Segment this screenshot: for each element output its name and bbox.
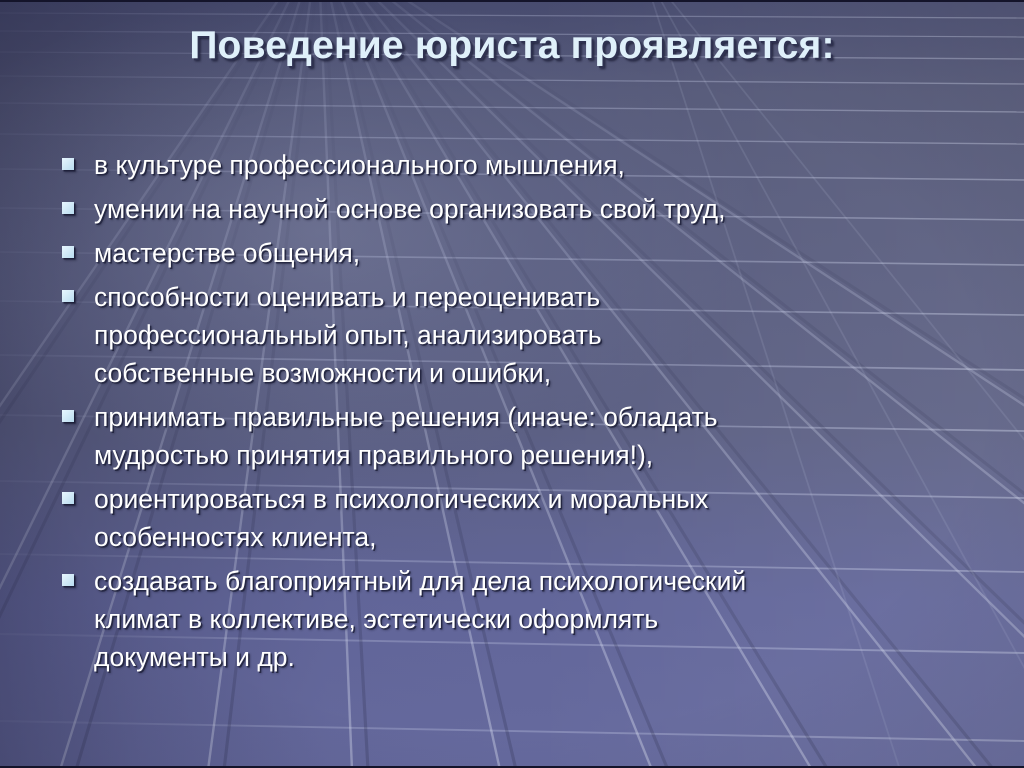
list-item-text: создавать благоприятный для дела психоло… (94, 562, 962, 676)
list-item-text: ориентироваться в психологических и мора… (94, 480, 962, 556)
list-item: ориентироваться в психологических и мора… (62, 480, 962, 556)
square-bullet-icon (62, 574, 74, 586)
list-item-text: в культуре профессионального мышления, (94, 146, 962, 184)
list-item: умении на научной основе организовать св… (62, 190, 962, 228)
presentation-slide: Поведение юриста проявляется: в культуре… (0, 0, 1024, 768)
list-item-text: мастерстве общения, (94, 234, 962, 272)
bullet-list: в культуре профессионального мышления, у… (62, 146, 962, 682)
square-bullet-icon (62, 290, 74, 302)
list-item-text: способности оценивать и переоценивать пр… (94, 278, 962, 392)
square-bullet-icon (62, 158, 74, 170)
list-item: в культуре профессионального мышления, (62, 146, 962, 184)
list-item: мастерстве общения, (62, 234, 962, 272)
list-item-text: умении на научной основе организовать св… (94, 190, 962, 228)
slide-title: Поведение юриста проявляется: (0, 24, 1024, 68)
list-item-text: принимать правильные решения (иначе: обл… (94, 398, 962, 474)
square-bullet-icon (62, 492, 74, 504)
list-item: принимать правильные решения (иначе: обл… (62, 398, 962, 474)
square-bullet-icon (62, 410, 74, 422)
square-bullet-icon (62, 246, 74, 258)
square-bullet-icon (62, 202, 74, 214)
list-item: создавать благоприятный для дела психоло… (62, 562, 962, 676)
list-item: способности оценивать и переоценивать пр… (62, 278, 962, 392)
